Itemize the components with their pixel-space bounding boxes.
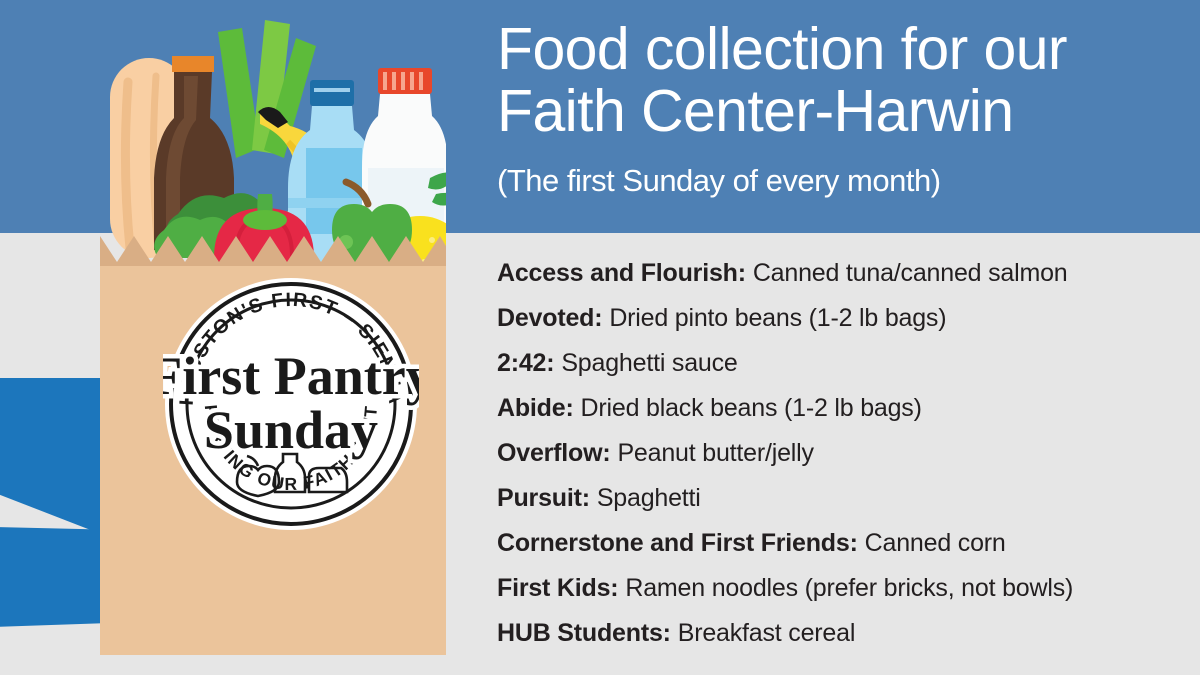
- poster-canvas: HOUSTON'S FIRST – SIENNA SUPPORTING OUR …: [0, 0, 1200, 675]
- need-group-name: Pursuit:: [497, 484, 590, 512]
- list-item: Devoted: Dried pinto beans (1-2 lb bags): [497, 297, 1187, 342]
- seal-center-line-2: Sunday: [204, 400, 378, 460]
- need-item-text: Peanut butter/jelly: [617, 439, 813, 467]
- title-line-1: Food collection for our: [497, 18, 1187, 80]
- need-group-name: HUB Students:: [497, 619, 671, 647]
- seal-center-line-1: First Pantry: [163, 346, 419, 406]
- list-item: HUB Students: Breakfast cereal: [497, 612, 1187, 657]
- page-subtitle: (The first Sunday of every month): [497, 163, 1187, 199]
- need-item-text: Dried pinto beans (1-2 lb bags): [609, 304, 946, 332]
- list-item: Access and Flourish: Canned tuna/canned …: [497, 252, 1187, 297]
- list-item: Cornerstone and First Friends: Canned co…: [497, 522, 1187, 567]
- page-title: Food collection for our Faith Center-Har…: [497, 18, 1187, 142]
- need-item-text: Canned corn: [865, 529, 1006, 557]
- first-pantry-sunday-seal: HOUSTON'S FIRST – SIENNA SUPPORTING OUR …: [163, 276, 419, 532]
- list-item: 2:42: Spaghetti sauce: [497, 342, 1187, 387]
- need-item-text: Ramen noodles (prefer bricks, not bowls): [625, 574, 1073, 602]
- list-item: Abide: Dried black beans (1-2 lb bags): [497, 387, 1187, 432]
- need-group-name: Access and Flourish:: [497, 259, 746, 287]
- need-group-name: First Kids:: [497, 574, 618, 602]
- need-item-text: Dried black beans (1-2 lb bags): [581, 394, 922, 422]
- list-item: Pursuit: Spaghetti: [497, 477, 1187, 522]
- need-item-text: Spaghetti: [597, 484, 701, 512]
- need-item-text: Canned tuna/canned salmon: [753, 259, 1068, 287]
- need-group-name: Abide:: [497, 394, 574, 422]
- need-group-name: Cornerstone and First Friends:: [497, 529, 858, 557]
- list-item: First Kids: Ramen noodles (prefer bricks…: [497, 567, 1187, 612]
- needs-list: Access and Flourish: Canned tuna/canned …: [497, 252, 1187, 657]
- need-item-text: Breakfast cereal: [678, 619, 855, 647]
- title-line-2: Faith Center-Harwin: [497, 80, 1187, 142]
- need-group-name: 2:42:: [497, 349, 554, 377]
- list-item: Overflow: Peanut butter/jelly: [497, 432, 1187, 477]
- need-group-name: Overflow:: [497, 439, 611, 467]
- need-group-name: Devoted:: [497, 304, 602, 332]
- need-item-text: Spaghetti sauce: [561, 349, 737, 377]
